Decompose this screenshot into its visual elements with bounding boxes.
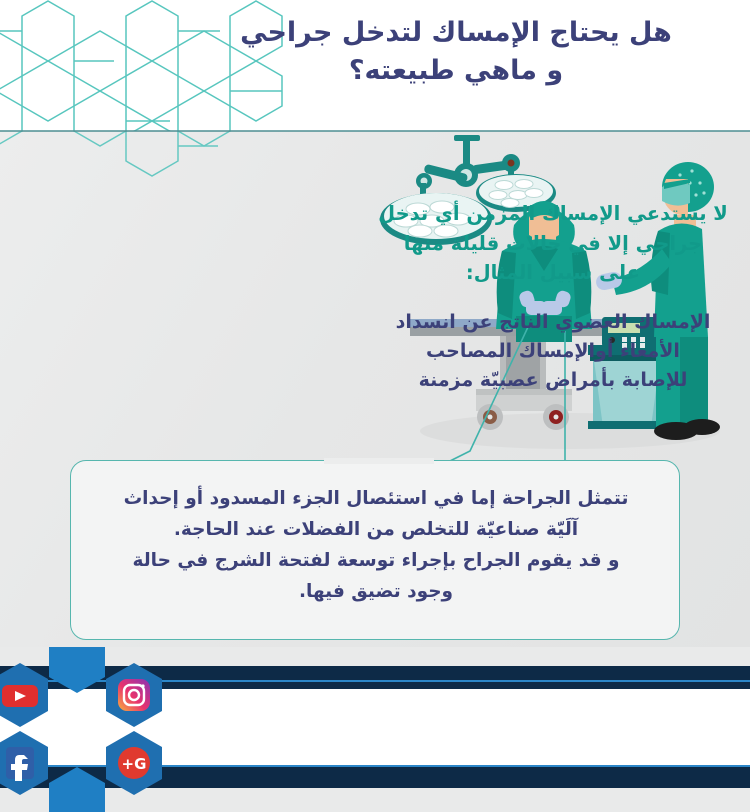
brand-hexagon (49, 697, 105, 761)
navy-line-1: الإمساك العضوي الناتج عن انسداد (378, 308, 728, 337)
header-divider (0, 130, 750, 132)
facebook-icon[interactable] (0, 731, 48, 795)
callout-text: تتمثل الجراحة إما في استئصال الجزء المسد… (71, 483, 681, 607)
header: هل يحتاج الإمساك لتدخل جراحي و ماهي طبيع… (0, 0, 750, 131)
callout-line-3: و قد يقوم الجراح بإجراء توسعة لفتحة الشر… (71, 545, 681, 576)
callout-line-1: تتمثل الجراحة إما في استئصال الجزء المسد… (71, 483, 681, 514)
infographic-root: هل يحتاج الإمساك لتدخل جراحي و ماهي طبيع… (0, 0, 750, 812)
googleplus-icon[interactable]: G+ (106, 731, 162, 795)
social-hexagon-cluster: G+ (0, 647, 172, 812)
navy-text-block: الإمساك العضوي الناتج عن انسداد الأمعاء … (378, 308, 728, 395)
navy-line-2: الأمعاء أوالإمساك المصاحب (378, 337, 728, 366)
teal-line-2: جراحي إلا في حالات قليلة منها (378, 229, 728, 259)
decor-hexagon-bottom (49, 767, 105, 812)
teal-line-3: على سبيل المثال: (378, 258, 728, 288)
youtube-icon[interactable] (0, 663, 48, 727)
hexagon-pattern-lower-icon (0, 131, 322, 211)
teal-text-block: لا يستدعي الإمساك المزمن أي تدخل جراحي إ… (378, 199, 728, 288)
callout-notch (324, 458, 434, 464)
operating-room-illustration (380, 131, 750, 471)
instagram-icon[interactable] (106, 663, 162, 727)
teal-line-1: لا يستدعي الإمساك المزمن أي تدخل (378, 199, 728, 229)
callout-box: تتمثل الجراحة إما في استئصال الجزء المسد… (70, 460, 680, 640)
page-title: هل يحتاج الإمساك لتدخل جراحي و ماهي طبيع… (186, 14, 726, 91)
navy-line-3: للإصابة بأمراض عصبيّة مزمنة (378, 366, 728, 395)
svg-text:G+: G+ (122, 755, 147, 773)
title-line-1: هل يحتاج الإمساك لتدخل جراحي (240, 17, 672, 48)
footer: G+ @KFSHRC @KFSHRC @KFSHRC_J @KFSHRC_Res… (0, 647, 750, 812)
callout-line-2: آلَيّة صناعيّة للتخلص من الفضلات عند الح… (71, 514, 681, 545)
decor-hexagon-top (49, 647, 105, 693)
title-line-2: و ماهي طبيعته؟ (186, 52, 726, 90)
callout-line-4: وجود تضيق فيها. (71, 576, 681, 607)
